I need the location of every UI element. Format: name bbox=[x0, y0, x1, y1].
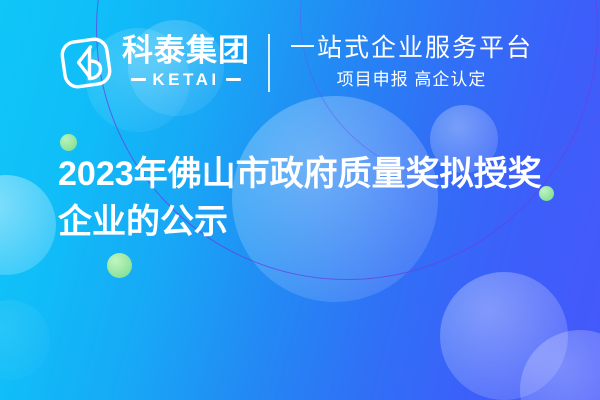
slogan-primary: 一站式企业服务平台 bbox=[290, 33, 533, 64]
decorative-dot-green-lower bbox=[107, 253, 132, 278]
slogan-secondary: 项目申报 高企认定 bbox=[290, 67, 533, 93]
brand-rule-left bbox=[131, 78, 146, 81]
brand-name-en: KETAI bbox=[152, 70, 219, 90]
brand-logo-text: 科泰集团 KETAI bbox=[122, 35, 250, 90]
promo-banner: 科泰集团 KETAI 一站式企业服务平台 项目申报 高企认定 2023年佛山市政… bbox=[0, 0, 600, 400]
decorative-circle-bottom-right bbox=[440, 272, 568, 400]
decorative-circle-bottom-left bbox=[0, 300, 50, 380]
decorative-circle-corner bbox=[520, 330, 600, 400]
brand-rule-right bbox=[226, 78, 241, 81]
decorative-dot-green-upper bbox=[60, 134, 77, 151]
header-slogan: 一站式企业服务平台 项目申报 高企认定 bbox=[290, 33, 533, 93]
decorative-circle-left-edge bbox=[0, 175, 56, 275]
brand-name-en-row: KETAI bbox=[131, 70, 240, 90]
page-title: 2023年佛山市政府质量奖拟授奖企业的公示 bbox=[58, 150, 558, 247]
brand-name-cn: 科泰集团 bbox=[122, 35, 250, 68]
banner-header: 科泰集团 KETAI 一站式企业服务平台 项目申报 高企认定 bbox=[0, 0, 600, 125]
header-divider bbox=[268, 34, 270, 92]
brand-logo[interactable]: 科泰集团 KETAI bbox=[58, 35, 250, 91]
ketai-logo-icon bbox=[58, 35, 114, 91]
